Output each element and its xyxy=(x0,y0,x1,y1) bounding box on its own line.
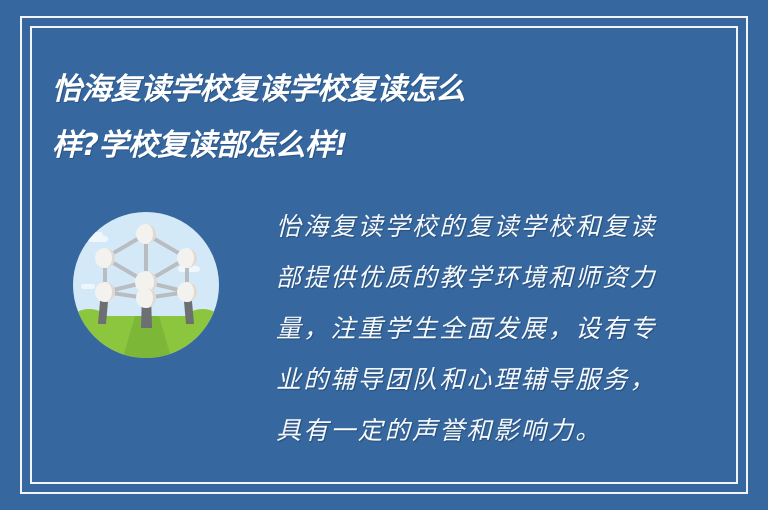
poster-canvas: 怡海复读学校复读学校复读怎么 样?学校复读部怎么样! xyxy=(0,0,768,510)
page-title: 怡海复读学校复读学校复读怎么 样?学校复读部怎么样! xyxy=(52,62,692,174)
atomium-landmark-icon xyxy=(73,212,219,358)
body-text-line-4: 业的辅导团队和心理辅导服务， xyxy=(276,354,712,405)
body-text-line-1: 怡海复读学校的复读学校和复读 xyxy=(276,201,712,252)
page-title-line-1: 怡海复读学校复读学校复读怎么 xyxy=(52,62,692,118)
page-title-line-2: 样?学校复读部怎么样! xyxy=(52,118,692,174)
body-text-line-3: 量，注重学生全面发展，设有专 xyxy=(276,303,712,354)
body-text-line-5: 具有一定的声誉和影响力。 xyxy=(276,405,712,456)
body-text: 怡海复读学校的复读学校和复读 部提供优质的教学环境和师资力 量，注重学生全面发展… xyxy=(276,201,712,456)
content-row: 怡海复读学校的复读学校和复读 部提供优质的教学环境和师资力 量，注重学生全面发展… xyxy=(52,205,712,456)
body-text-line-2: 部提供优质的教学环境和师资力 xyxy=(276,252,712,303)
